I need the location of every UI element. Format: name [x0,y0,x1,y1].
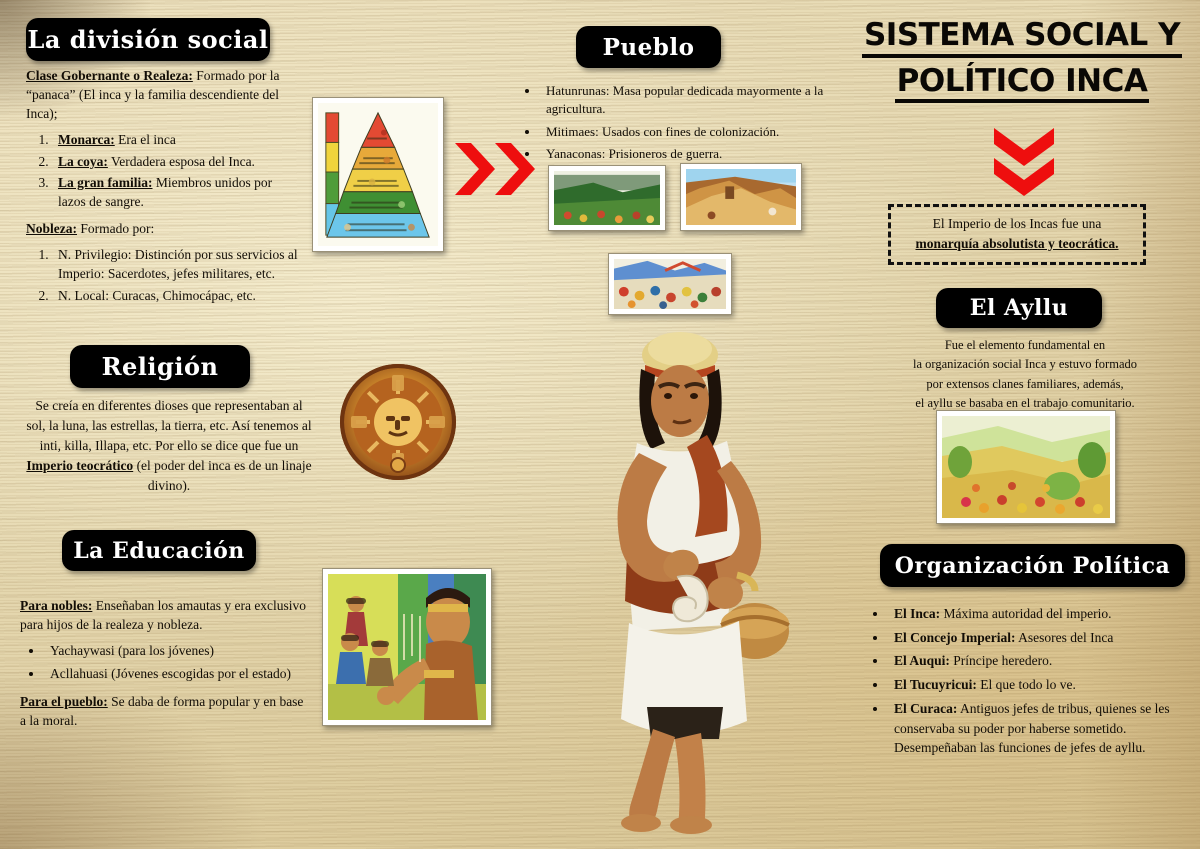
callout-line-1: El Imperio de los Incas fue una [933,216,1102,231]
list-item: N. Local: Curacas, Chimocápac, etc. [52,286,298,305]
title-line-1: SISTEMA SOCIAL Y [862,18,1182,58]
heading-educacion-label: La Educación [73,538,245,564]
org-label-0: El Inca: [894,606,940,621]
religion-part2: (el poder del inca es de un linaje divin… [133,458,311,493]
heading-pueblo-label: Pueblo [603,34,695,61]
heading-division-social: La división social [26,18,270,61]
org-label-3: El Tucuyricui: [894,677,977,692]
section-division-social: Clase Gobernante o Realeza: Formado por … [26,66,298,313]
list-item: Yachaywasi (para los jóvenes) [44,641,312,660]
title-line-2: POLÍTICO INCA [895,64,1150,104]
inca-sun-disc-image [338,362,458,482]
list-item: Hatunrunas: Masa popular dedicada mayorm… [540,82,832,119]
educacion-bullets: Yachaywasi (para los jóvenes) Acllahuasi… [20,641,312,683]
nobleza-list: N. Privilegio: Distinción por sus servic… [26,245,298,304]
heading-ayllu: El Ayllu [936,288,1102,328]
ayllu-line-3: por extensos clanes familiares, además, [890,375,1160,394]
heading-religion: Religión [70,345,250,388]
social-pyramid-image [312,97,444,252]
org-text-3: El que todo lo ve. [977,677,1076,692]
realeza-label-0: Monarca: [58,132,115,147]
nobleza-intro: Nobleza: Formado por: [26,219,298,238]
list-item: Yanaconas: Prisioneros de guerra. [540,145,832,163]
educacion-pueblo-label: Para el pueblo: [20,694,108,709]
pueblo-bullets: Hatunrunas: Masa popular dedicada mayorm… [516,82,832,164]
org-text-2: Príncipe heredero. [950,653,1052,668]
heading-educacion: La Educación [62,530,256,571]
org-label-2: El Auqui: [894,653,950,668]
list-item: El Auqui: Príncipe heredero. [888,651,1192,671]
heading-organizacion: Organización Política [880,544,1185,587]
andean-market-photo [608,253,732,315]
org-text-1: Asesores del Inca [1015,630,1113,645]
poster-title: SISTEMA SOCIAL Y POLÍTICO INCA [852,18,1192,103]
infographic-poster: SISTEMA SOCIAL Y POLÍTICO INCA El Imperi… [0,0,1200,849]
realeza-label-2: La gran familia: [58,175,153,190]
division-intro: Clase Gobernante o Realeza: Formado por … [26,66,298,123]
org-label-1: El Concejo Imperial: [894,630,1015,645]
realeza-list: Monarca: Era el inca La coya: Verdadera … [26,130,298,211]
org-text-0: Máxima autoridad del imperio. [940,606,1111,621]
educacion-pueblo: Para el pueblo: Se daba de forma popular… [20,692,312,730]
callout-line-2: monarquía absolutista y teocrática. [916,236,1119,251]
list-item: N. Privilegio: Distinción por sus servic… [52,245,298,283]
chevron-down-icon [994,128,1054,196]
section-ayllu: Fue el elemento fundamental en la organi… [890,336,1160,414]
list-item: Monarca: Era el inca [52,130,298,149]
heading-pueblo: Pueblo [576,26,721,68]
heading-organizacion-label: Organización Política [895,553,1171,579]
amauta-teaching-photo [322,568,492,726]
ayllu-line-1: Fue el elemento fundamental en [890,336,1160,355]
list-item: Mitimaes: Usados con fines de colonizaci… [540,123,832,141]
realeza-label-1: La coya: [58,154,108,169]
educacion-nobles-label: Para nobles: [20,598,92,613]
section-religion: Se creía en diferentes dioses que repres… [26,396,312,496]
list-item: La coya: Verdadera esposa del Inca. [52,152,298,171]
nobleza-text: Formado por: [77,221,154,236]
religion-emphasis: Imperio teocrático [26,458,133,473]
section-organizacion: El Inca: Máxima autoridad del imperio. E… [862,600,1192,766]
chevron-right-icon [455,143,539,195]
heading-religion-label: Religión [102,352,219,381]
list-item: El Concejo Imperial: Asesores del Inca [888,628,1192,648]
org-label-4: El Curaca: [894,701,957,716]
organizacion-list: El Inca: Máxima autoridad del imperio. E… [862,604,1192,758]
heading-division-social-label: La división social [27,25,268,54]
realeza-text-0: Era el inca [115,132,176,147]
heading-ayllu-label: El Ayllu [970,295,1068,321]
religion-part1: Se creía en diferentes dioses que repres… [26,398,311,453]
division-intro-label: Clase Gobernante o Realeza: [26,68,193,83]
section-educacion: Para nobles: Enseñaban los amautas y era… [20,596,312,737]
list-item: La gran familia: Miembros unidos por laz… [52,173,298,211]
ayllu-line-2: la organización social Inca y estuvo for… [890,355,1160,374]
inca-chasqui-figure-image [555,325,820,835]
list-item: Acllahuasi (Jóvenes escogidas por el est… [44,664,312,683]
realeza-text-1: Verdadera esposa del Inca. [108,154,255,169]
ayllu-community-landscape-photo [936,410,1116,524]
section-pueblo: Hatunrunas: Masa popular dedicada mayorm… [516,78,832,172]
callout-box: El Imperio de los Incas fue una monarquí… [888,204,1146,265]
educacion-nobles: Para nobles: Enseñaban los amautas y era… [20,596,312,634]
andean-terraces-photo [548,165,666,231]
list-item: El Tucuyricui: El que todo lo ve. [888,675,1192,695]
list-item: El Inca: Máxima autoridad del imperio. [888,604,1192,624]
nobleza-label: Nobleza: [26,221,77,236]
inca-ruins-photo [680,163,802,231]
list-item: El Curaca: Antiguos jefes de tribus, qui… [888,699,1192,758]
